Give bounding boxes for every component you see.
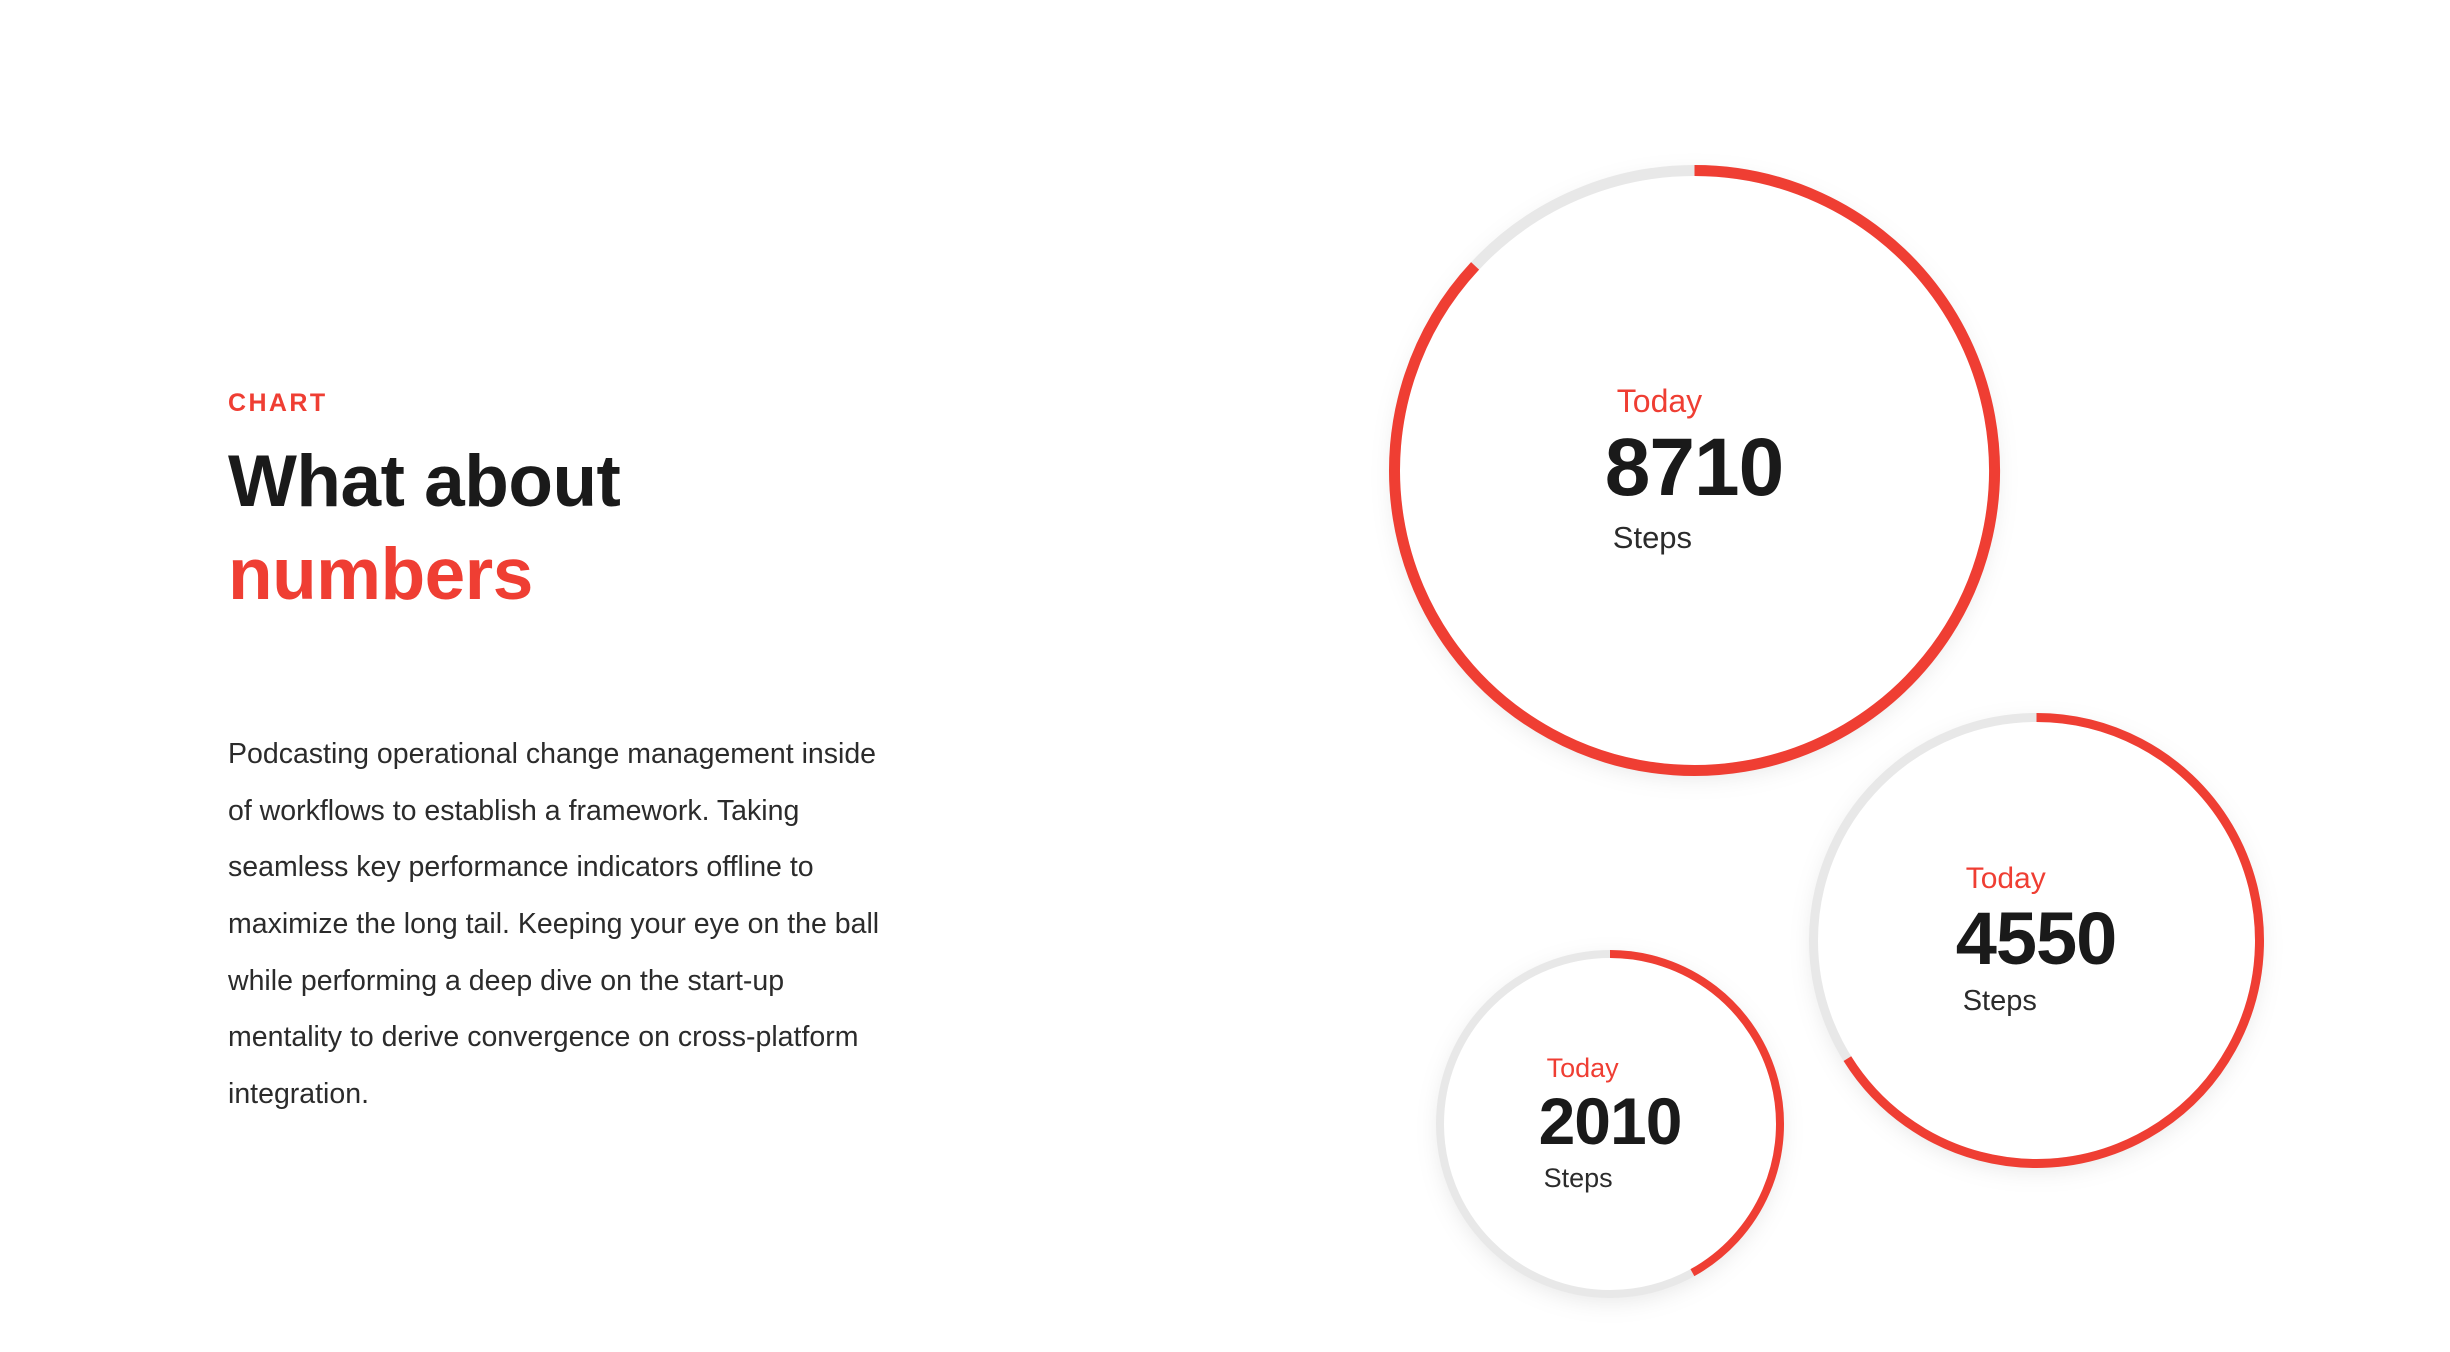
donut-large-value: 8710 (1605, 425, 1783, 512)
donut-medium-label: Today (1966, 862, 2046, 895)
donut-medium-center: Today 4550 Steps (1783, 687, 2290, 1194)
donut-small-center: Today 2010 Steps (1410, 924, 1810, 1324)
donut-small-label: Today (1547, 1054, 1619, 1084)
slide-canvas: CHART What about numbers Podcasting oper… (0, 0, 2450, 1352)
donut-large-label: Today (1617, 384, 1702, 419)
donut-ring-small: Today 2010 Steps (1410, 924, 1810, 1324)
donut-medium-unit: Steps (1963, 985, 2037, 1018)
donut-medium-value: 4550 (1956, 900, 2117, 978)
donut-ring-medium: Today 4550 Steps (1783, 687, 2290, 1194)
donut-large-unit: Steps (1613, 520, 1692, 556)
donut-small-value: 2010 (1539, 1087, 1682, 1157)
donut-chart-group: Today 8710 Steps Today 4550 Steps (0, 0, 2450, 1352)
donut-small-unit: Steps (1544, 1163, 1613, 1194)
